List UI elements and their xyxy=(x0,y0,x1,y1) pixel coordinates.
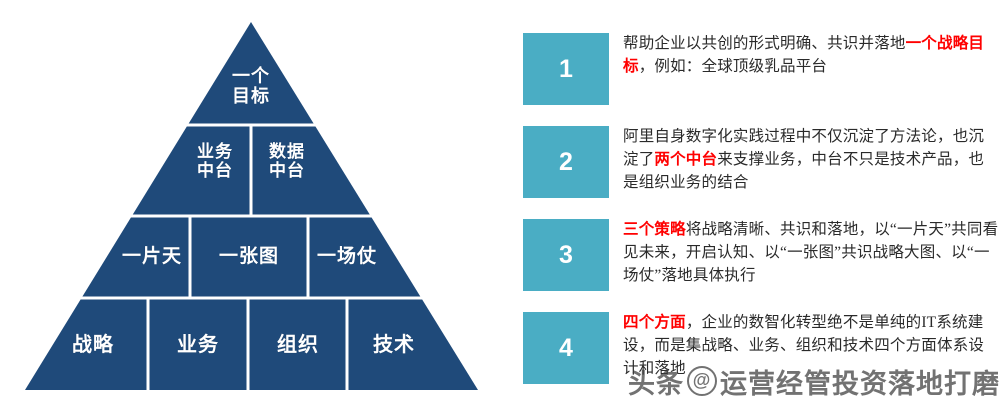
list-item-2: 2 阿里自身数字化实践过程中不仅沉淀了方法论，也沉淀了两个中台来支撑业务，中台不… xyxy=(503,126,1003,198)
list-item-2-text: 阿里自身数字化实践过程中不仅沉淀了方法论，也沉淀了两个中台来支撑业务，中台不只是… xyxy=(623,126,1003,195)
pyramid-shape xyxy=(0,0,503,402)
explanation-list: 1 帮助企业以共创的形式明确、共识并落地一个战略目标，例如：全球顶级乳品平台 2… xyxy=(503,0,1003,402)
text-segment: 帮助企业以共创的形式明确、共识并落地 xyxy=(623,35,906,52)
text-segment-highlight: 三个策略 xyxy=(623,221,686,238)
text-segment-highlight: 四个方面 xyxy=(623,314,686,331)
pyramid-diagram: 一个 目标 业务 中台 数据 中台 一片天 一张图 一场仗 战略 业务 组织 技… xyxy=(0,0,503,402)
list-item-2-number: 2 xyxy=(523,126,609,198)
list-item-1-number: 1 xyxy=(523,33,609,105)
text-segment: ，例如：全球顶级乳品平台 xyxy=(639,58,827,75)
list-item-4-number: 4 xyxy=(523,312,609,384)
list-item-1: 1 帮助企业以共创的形式明确、共识并落地一个战略目标，例如：全球顶级乳品平台 xyxy=(503,33,1003,105)
text-segment-highlight: 两个中台 xyxy=(654,151,717,168)
list-item-4-text: 四个方面，企业的数智化转型绝不是单纯的IT系统建设，而是集战略、业务、组织和技术… xyxy=(623,312,1003,381)
list-item-3-number: 3 xyxy=(523,219,609,291)
list-item-3-text: 三个策略将战略清晰、共识和落地，以“一片天”共同看见未来，开启认知、以“一张图”… xyxy=(623,219,1003,288)
slide-root: 一个 目标 业务 中台 数据 中台 一片天 一张图 一场仗 战略 业务 组织 技… xyxy=(0,0,1003,402)
list-item-4: 4 四个方面，企业的数智化转型绝不是单纯的IT系统建设，而是集战略、业务、组织和… xyxy=(503,312,1003,384)
list-item-1-text: 帮助企业以共创的形式明确、共识并落地一个战略目标，例如：全球顶级乳品平台 xyxy=(623,33,1003,79)
list-item-3: 3 三个策略将战略清晰、共识和落地，以“一片天”共同看见未来，开启认知、以“一张… xyxy=(503,219,1003,291)
